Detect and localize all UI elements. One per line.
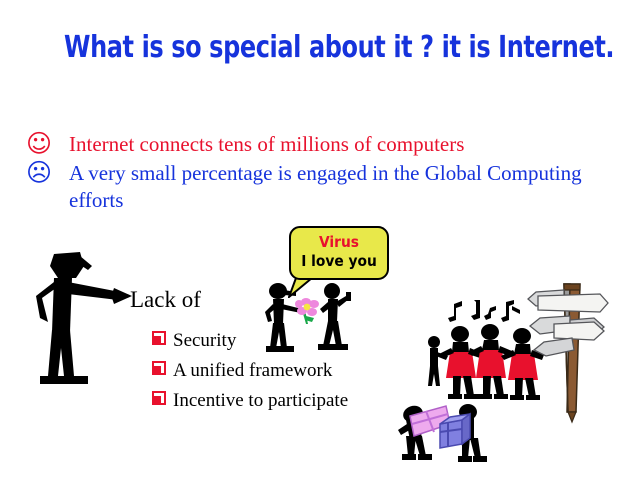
wooden-signpost-with-direction-arrows	[524, 272, 628, 442]
list-item: A unified framework	[152, 356, 348, 386]
lack-of-heading: Lack of	[130, 287, 201, 313]
list-item: Incentive to participate	[152, 386, 348, 416]
speech-bubble-line-1: Virus	[295, 235, 383, 250]
speech-bubble: Virus I love you	[289, 226, 389, 280]
bullet-list: ☺ Internet connects tens of millions of …	[26, 131, 616, 216]
presentation-slide: What is so special about it ? it is Inte…	[0, 0, 640, 480]
red-box-bullet-icon	[152, 361, 166, 375]
frowning-face-icon: ☹	[26, 160, 60, 186]
sub-bullet-text: Security	[173, 326, 236, 356]
gift-carrying-stick-figures	[388, 398, 498, 478]
smiley-face-icon: ☺	[26, 131, 60, 157]
page-title: What is so special about it ? it is Inte…	[64, 32, 576, 64]
bullet-text: Internet connects tens of millions of co…	[60, 131, 616, 158]
speech-bubble-line-2: I love you	[295, 253, 383, 269]
red-box-bullet-icon	[152, 331, 166, 345]
sub-bullet-text: A unified framework	[173, 356, 332, 386]
pointing-stick-figure	[14, 252, 132, 390]
bullet-text: A very small percentage is engaged in th…	[60, 160, 616, 214]
sub-bullet-text: Incentive to participate	[173, 386, 348, 416]
list-item: ☹ A very small percentage is engaged in …	[26, 160, 616, 214]
music-note-icon	[448, 300, 520, 322]
list-item: ☺ Internet connects tens of millions of …	[26, 131, 616, 158]
red-box-bullet-icon	[152, 391, 166, 405]
